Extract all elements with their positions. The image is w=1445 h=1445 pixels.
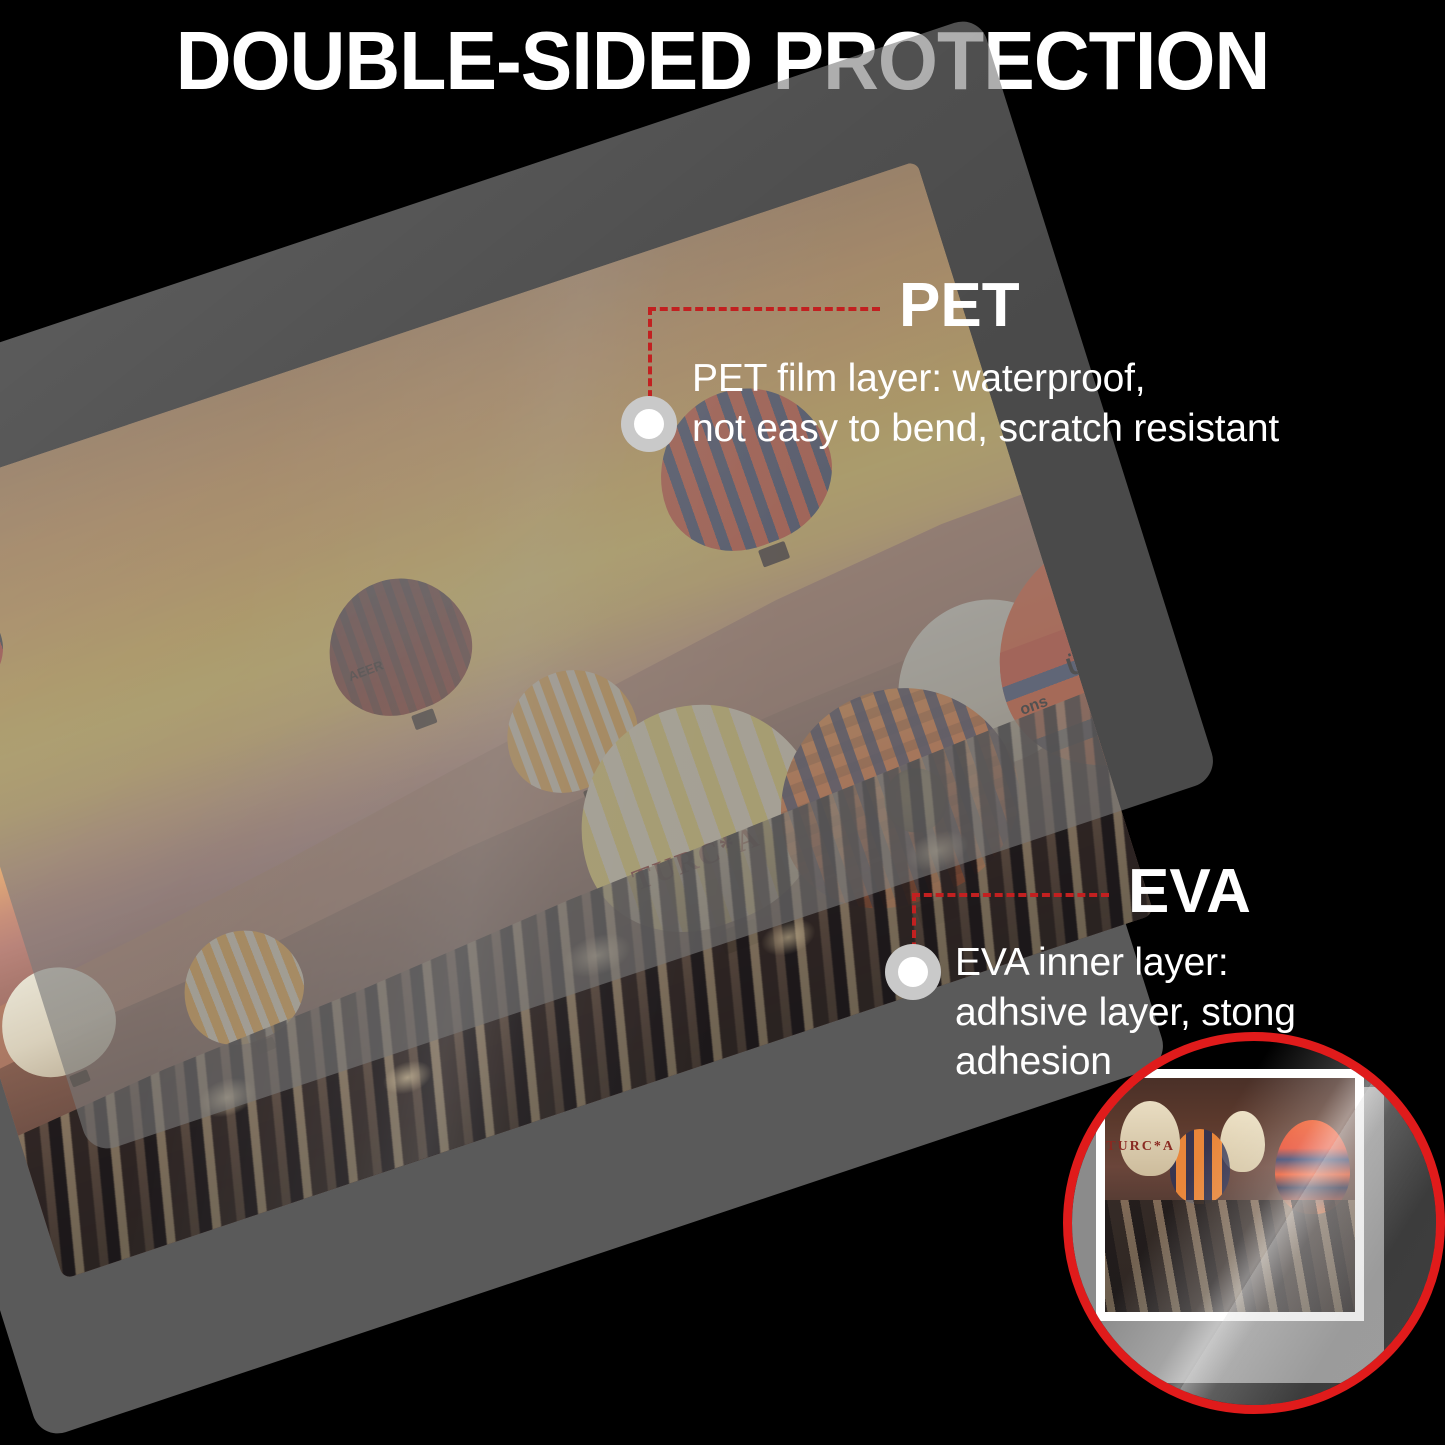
magnifier-white-frame: TURC*A [1096,1069,1364,1321]
pet-leader-line-vertical [648,307,652,410]
pet-callout-title: PET [899,275,1020,337]
layer-stack: AEER TURC*A [0,150,1200,1330]
mag-balloon-text-turca: TURC*A [1106,1139,1175,1155]
eva-marker-dot [885,944,941,1000]
corner-closeup-inset: TURC*A [1063,1032,1445,1414]
infographic-canvas: DOUBLE-SIDED PROTECTION AEER [0,0,1445,1445]
page-title: DOUBLE-SIDED PROTECTION [51,16,1395,106]
pet-leader-line-horizontal [648,307,880,311]
pet-marker-dot [621,396,677,452]
magnifier-content: TURC*A [1063,1032,1445,1414]
eva-callout-title: EVA [1128,861,1251,923]
mag-rock-band [1096,1200,1364,1321]
pet-callout-description: PET film layer: waterproof, not easy to … [692,354,1279,453]
magnifier-photo: TURC*A [1105,1078,1355,1312]
eva-leader-line-horizontal [912,893,1109,897]
